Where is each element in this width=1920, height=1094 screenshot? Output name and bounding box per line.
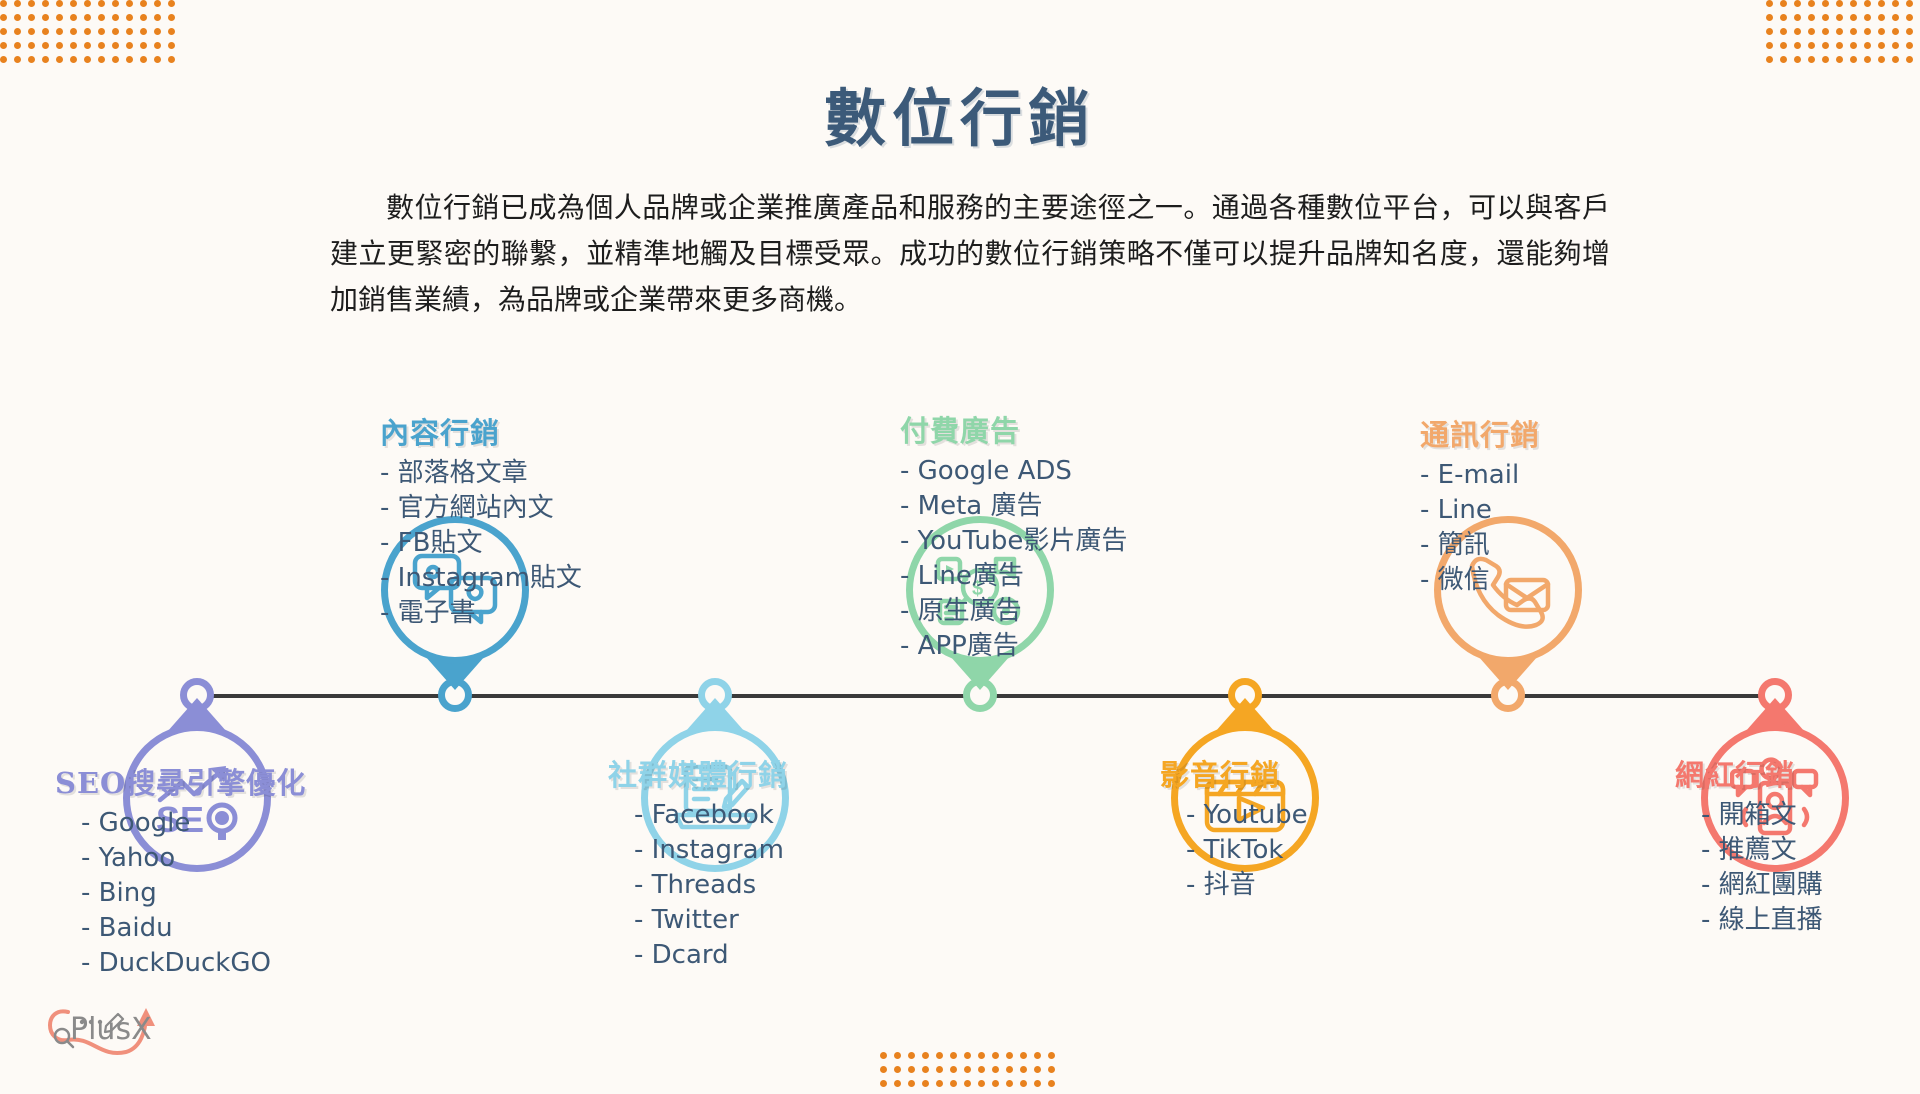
page-title: 數位行銷 xyxy=(0,68,1920,158)
list-item: Twitter xyxy=(634,903,788,938)
list-item: Line廣告 xyxy=(900,559,1127,594)
node-block-content: 內容行銷部落格文章官方網站內文FB貼文Instagram貼文電子書 xyxy=(380,410,582,631)
list-item: 開箱文 xyxy=(1701,798,1823,833)
list-item: 原生廣告 xyxy=(900,594,1127,629)
list-item: YouTube影片廣告 xyxy=(900,524,1127,559)
list-item: E-mail xyxy=(1420,458,1540,493)
list-item: Line xyxy=(1420,493,1540,528)
intro-text: 數位行銷已成為個人品牌或企業推廣產品和服務的主要途徑之一。通過各種數位平台，可以… xyxy=(330,185,1610,323)
node-list-paid-ads: Google ADSMeta 廣告YouTube影片廣告Line廣告原生廣告AP… xyxy=(900,454,1127,664)
list-item: Baidu xyxy=(81,911,306,946)
node-title-video: 影音行銷 xyxy=(1160,752,1308,794)
list-item: DuckDuckGO xyxy=(81,946,306,981)
list-item: Instagram xyxy=(634,833,788,868)
list-item: Facebook xyxy=(634,798,788,833)
node-list-seo: GoogleYahooBingBaiduDuckDuckGO xyxy=(55,806,306,981)
node-block-social: 社群媒體行銷FacebookInstagramThreadsTwitterDca… xyxy=(608,752,788,973)
list-item: 線上直播 xyxy=(1701,903,1823,938)
list-item: 簡訊 xyxy=(1420,528,1540,563)
node-list-video: YoutubeTikTok抖音 xyxy=(1160,798,1308,903)
list-item: FB貼文 xyxy=(380,526,582,561)
node-block-video: 影音行銷YoutubeTikTok抖音 xyxy=(1160,752,1308,903)
node-block-influencer: 網紅行銷開箱文推薦文網紅團購線上直播 xyxy=(1675,752,1823,938)
list-item: 推薦文 xyxy=(1701,833,1823,868)
list-item: 抖音 xyxy=(1186,868,1308,903)
node-title-influencer: 網紅行銷 xyxy=(1675,752,1823,794)
node-list-influencer: 開箱文推薦文網紅團購線上直播 xyxy=(1675,798,1823,938)
list-item: 網紅團購 xyxy=(1701,868,1823,903)
list-item: Google ADS xyxy=(900,454,1127,489)
decor-dots-bottom-center xyxy=(880,1052,1062,1094)
list-item: 部落格文章 xyxy=(380,456,582,491)
intro-paragraph: 數位行銷已成為個人品牌或企業推廣產品和服務的主要途徑之一。通過各種數位平台，可以… xyxy=(330,185,1610,323)
node-list-content: 部落格文章官方網站內文FB貼文Instagram貼文電子書 xyxy=(380,456,582,631)
node-block-paid-ads: 付費廣告Google ADSMeta 廣告YouTube影片廣告Line廣告原生… xyxy=(900,408,1127,664)
decor-dots-top-right xyxy=(1766,0,1920,70)
node-title-seo: SEO搜尋引擎優化 xyxy=(55,760,306,802)
list-item: Threads xyxy=(634,868,788,903)
node-title-social: 社群媒體行銷 xyxy=(608,752,788,794)
list-item: Bing xyxy=(81,876,306,911)
node-block-seo: SEO搜尋引擎優化GoogleYahooBingBaiduDuckDuckGO xyxy=(55,760,306,981)
list-item: Instagram貼文 xyxy=(380,561,582,596)
decor-dots-top-left xyxy=(0,0,182,70)
logo-text: PlusX xyxy=(70,1012,152,1047)
node-title-paid-ads: 付費廣告 xyxy=(900,408,1127,450)
list-item: APP廣告 xyxy=(900,629,1127,664)
list-item: 官方網站內文 xyxy=(380,491,582,526)
node-title-content: 內容行銷 xyxy=(380,410,582,452)
node-block-messaging: 通訊行銷E-mailLine簡訊微信 xyxy=(1420,412,1540,598)
list-item: Yahoo xyxy=(81,841,306,876)
list-item: 電子書 xyxy=(380,596,582,631)
list-item: Google xyxy=(81,806,306,841)
node-title-messaging: 通訊行銷 xyxy=(1420,412,1540,454)
plusx-logo: PlusX xyxy=(22,996,172,1068)
list-item: 微信 xyxy=(1420,563,1540,598)
list-item: Meta 廣告 xyxy=(900,489,1127,524)
list-item: Dcard xyxy=(634,938,788,973)
node-list-messaging: E-mailLine簡訊微信 xyxy=(1420,458,1540,598)
list-item: TikTok xyxy=(1186,833,1308,868)
node-list-social: FacebookInstagramThreadsTwitterDcard xyxy=(608,798,788,973)
list-item: Youtube xyxy=(1186,798,1308,833)
